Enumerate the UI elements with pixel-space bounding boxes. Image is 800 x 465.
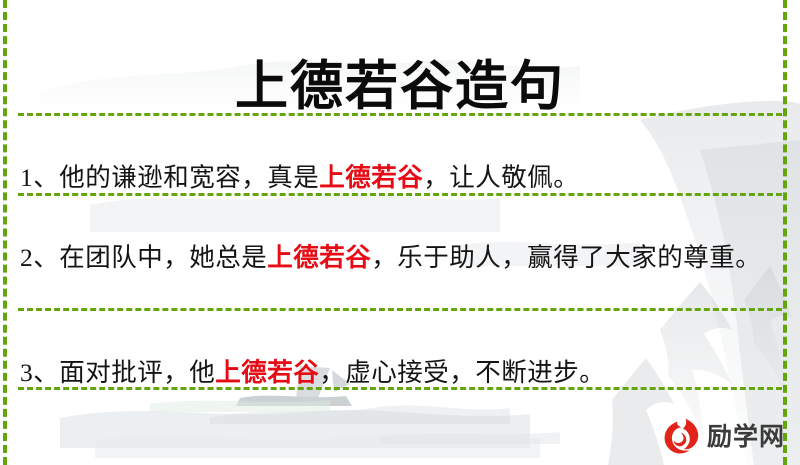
sentence-1-keyword: 上德若谷 — [319, 163, 423, 192]
left-dashed-rail — [3, 0, 7, 465]
divider-2 — [18, 193, 782, 196]
sentence-2-keyword: 上德若谷 — [267, 243, 371, 272]
sentence-2-after: ，乐于助人，赢得了大家的尊重。 — [371, 243, 761, 272]
sentence-3-keyword: 上德若谷 — [215, 358, 319, 387]
page-title: 上德若谷造句 — [0, 54, 800, 120]
flame-swirl-icon — [661, 416, 701, 456]
content-area: 上德若谷造句 1、他的谦逊和宽容，真是上德若谷，让人敬佩。 2、在团队中，她总是… — [0, 0, 800, 465]
example-sentence-2: 2、在团队中，她总是上德若谷，乐于助人，赢得了大家的尊重。 — [20, 237, 780, 278]
right-dashed-rail — [783, 0, 787, 465]
sentence-1-index: 1、 — [20, 163, 59, 192]
sentence-1-after: ，让人敬佩。 — [423, 163, 579, 192]
sentence-3-index: 3、 — [20, 358, 59, 387]
divider-3 — [18, 308, 782, 311]
divider-4 — [18, 387, 782, 390]
sentence-3-after: ，虚心接受，不断进步。 — [319, 358, 605, 387]
sentence-1-before: 他的谦逊和宽容，真是 — [59, 163, 319, 192]
worksheet-page: 上德若谷造句 1、他的谦逊和宽容，真是上德若谷，让人敬佩。 2、在团队中，她总是… — [0, 0, 800, 465]
example-sentence-1: 1、他的谦逊和宽容，真是上德若谷，让人敬佩。 — [20, 157, 780, 198]
site-watermark: 励学网 — [661, 412, 785, 460]
divider-1 — [18, 113, 782, 116]
sentence-2-index: 2、 — [20, 243, 59, 272]
sentence-3-before: 面对批评，他 — [59, 358, 215, 387]
sentence-2-before: 在团队中，她总是 — [59, 243, 267, 272]
site-brand-name: 励学网 — [707, 424, 785, 449]
